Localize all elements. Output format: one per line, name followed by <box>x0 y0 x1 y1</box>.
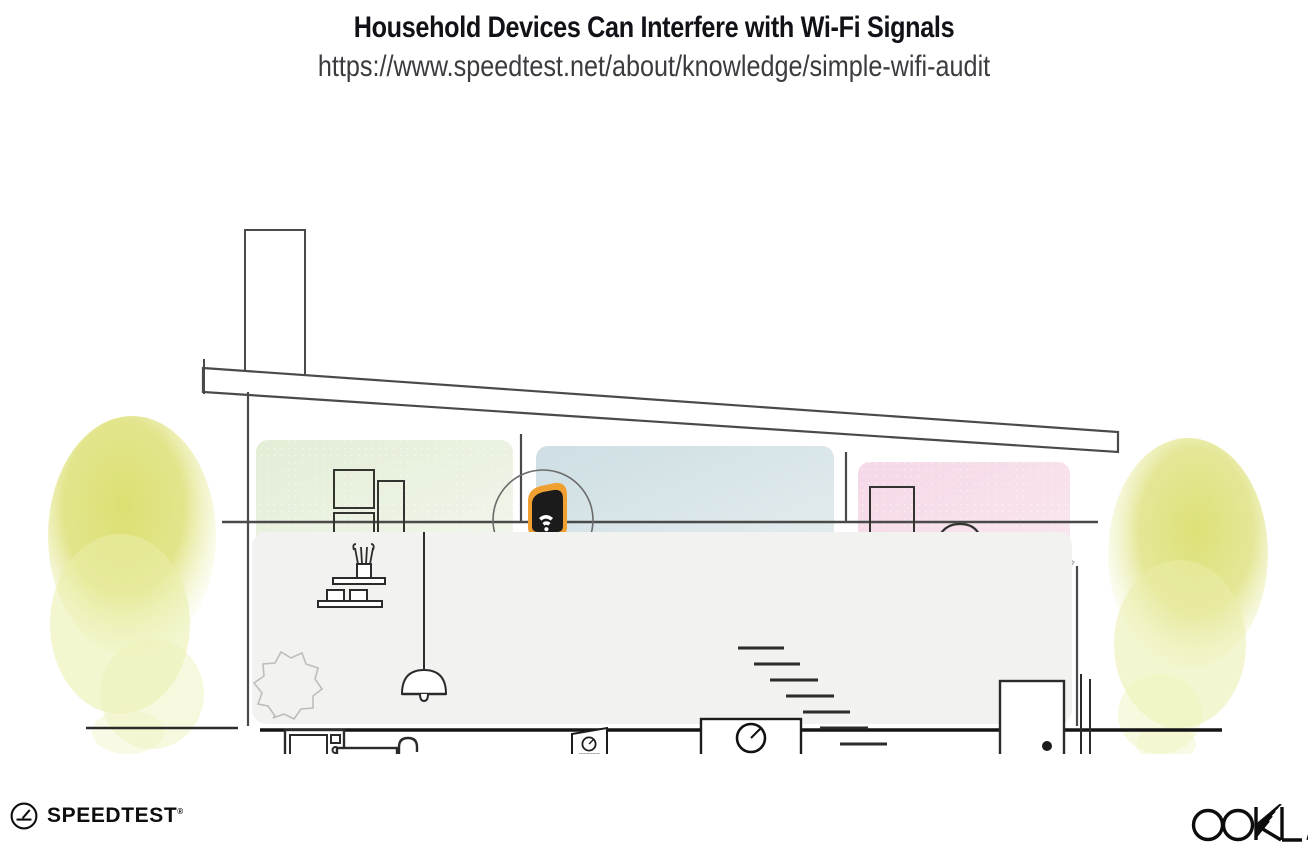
infographic-page: Household Devices Can Interfere with Wi-… <box>0 0 1308 861</box>
ookla-wordmark: ® <box>1186 804 1308 846</box>
speedtest-wordmark: SPEEDTEST® <box>47 804 184 828</box>
speedometer-icon <box>10 802 38 830</box>
house-cutaway-illustration: SPEEDTEST <box>0 104 1308 754</box>
room-ground-floor <box>252 532 1072 724</box>
bowl <box>350 590 367 601</box>
tree-left <box>48 416 216 754</box>
bowl <box>327 590 344 601</box>
kitchen-cabinet <box>337 748 397 754</box>
roof <box>203 359 1118 452</box>
sink-faucet <box>399 738 417 754</box>
door-knob <box>1042 741 1052 751</box>
ookla-logo[interactable]: ® <box>1186 804 1308 851</box>
speedtest-logo[interactable]: SPEEDTEST® <box>10 802 184 830</box>
chimney <box>245 230 305 375</box>
tree-right <box>1108 438 1268 754</box>
front-door <box>990 681 1072 754</box>
dining-area <box>468 728 646 754</box>
utensil-holder <box>357 564 371 578</box>
footer: SPEEDTEST® ® <box>0 790 1308 861</box>
header: Household Devices Can Interfere with Wi-… <box>0 0 1308 84</box>
wifi-router <box>528 483 567 536</box>
exterior-post <box>1081 674 1090 754</box>
laptop-screen-label: SPEEDTEST <box>578 753 600 754</box>
speedtest-wordmark-text: SPEEDTEST <box>47 804 177 827</box>
page-title: Household Devices Can Interfere with Wi-… <box>105 11 1204 45</box>
speedtest-trademark: ® <box>177 807 184 816</box>
source-url: https://www.speedtest.net/about/knowledg… <box>105 50 1204 84</box>
